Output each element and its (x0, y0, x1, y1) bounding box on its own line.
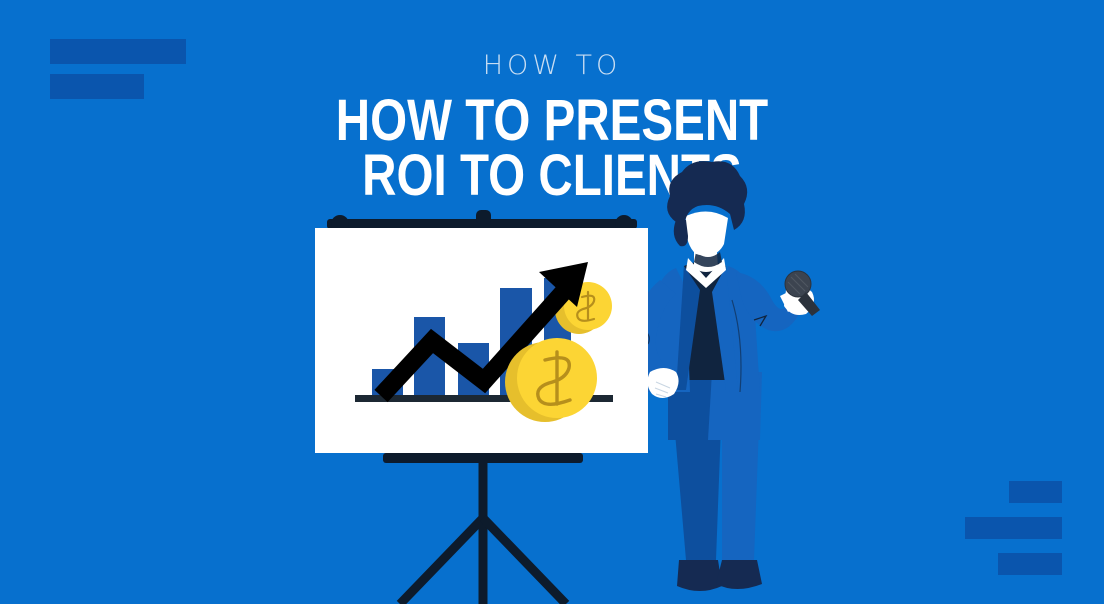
illustration (0, 0, 1104, 604)
presenter-figure (632, 161, 820, 591)
board-knob-center (476, 210, 491, 224)
board-bottom-rail (383, 453, 583, 463)
board-face (315, 228, 648, 453)
shoe-left (677, 560, 722, 591)
presentation-board (315, 210, 648, 604)
face (686, 211, 728, 255)
tripod-stand (400, 462, 566, 604)
hair-side (674, 220, 688, 246)
poster-canvas: HOW TO HOW TO PRESENT ROI TO CLIENTS (0, 0, 1104, 604)
shoe-right (716, 560, 762, 589)
hand-left (647, 368, 678, 398)
